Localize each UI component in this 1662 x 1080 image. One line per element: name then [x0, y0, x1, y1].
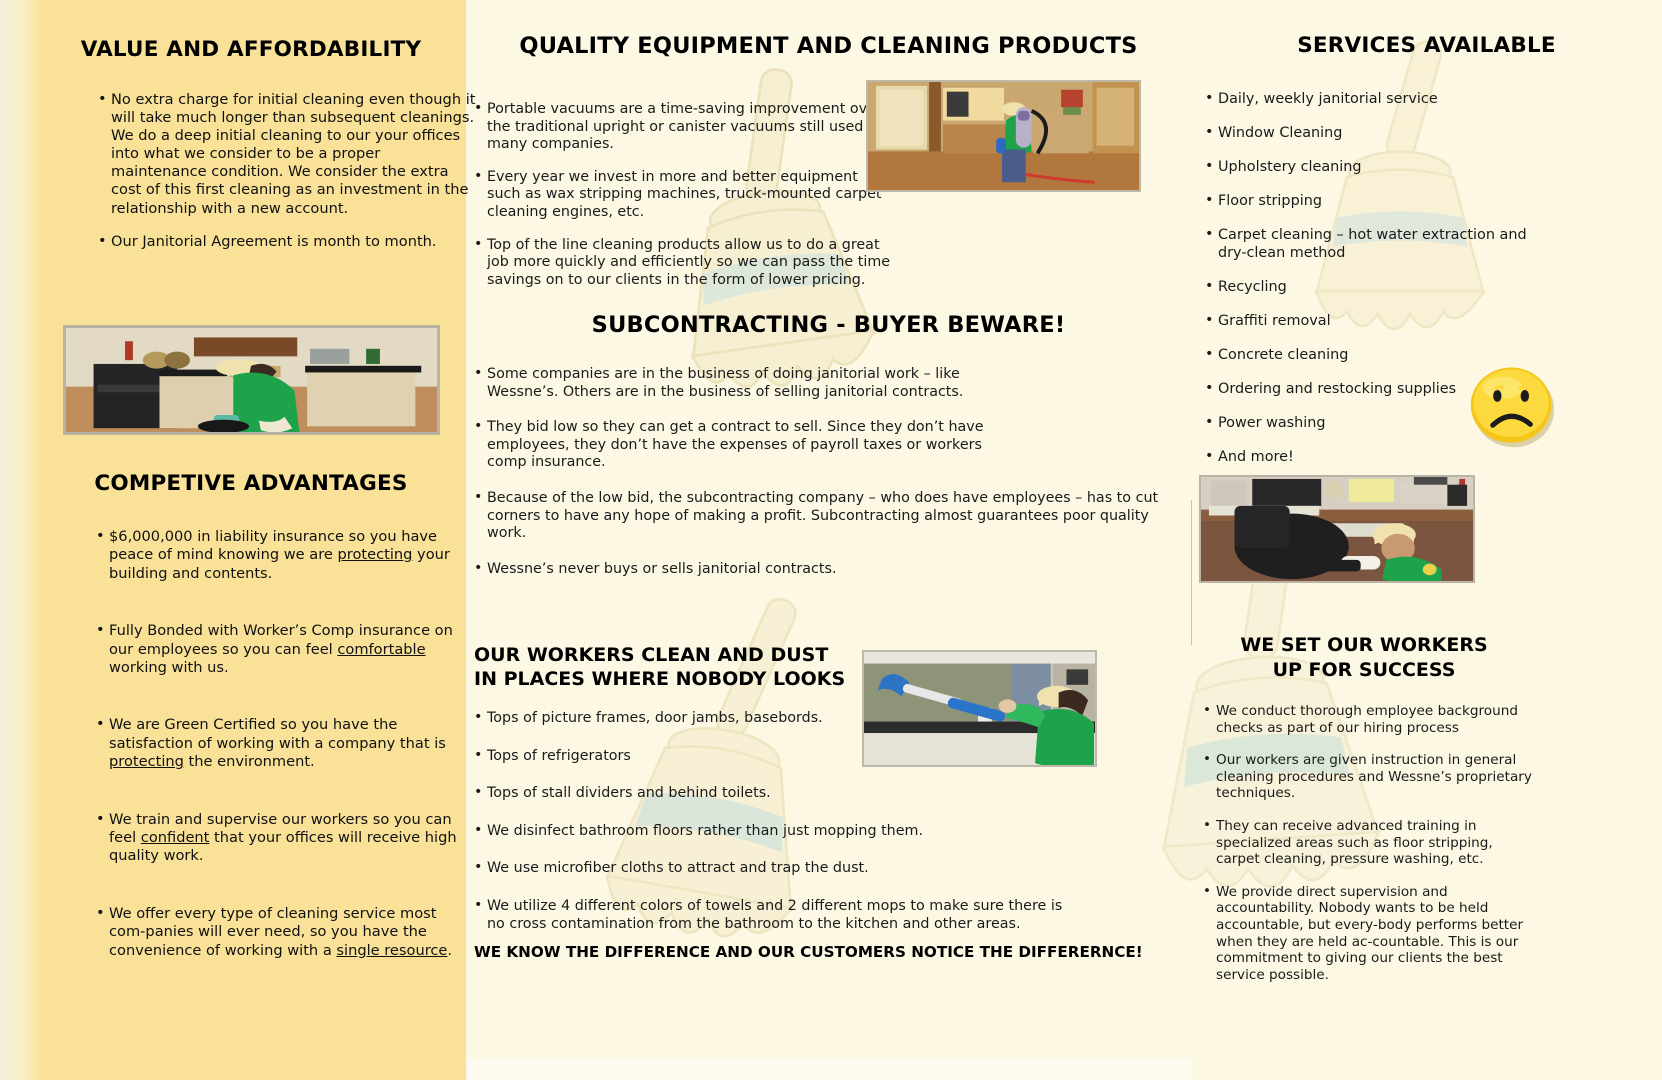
list-item: Concrete cleaning: [1205, 347, 1535, 365]
set-workers-up-for-success-list: We conduct thorough employee background …: [1203, 703, 1533, 983]
list-item: And more!: [1205, 449, 1535, 467]
list-item: Every year we invest in more and better …: [474, 169, 894, 222]
emphasis: confident: [141, 829, 210, 846]
quality-equipment-list: Portable vacuums are a time-saving impro…: [474, 101, 894, 289]
backpack-vacuum-photo: [866, 80, 1141, 192]
competitive-advantages-list: $6,000,000 in liability insurance so you…: [96, 528, 468, 960]
list-item: Our workers are given instruction in gen…: [1203, 752, 1533, 802]
heading-line-1: OUR WORKERS CLEAN AND DUST: [474, 643, 894, 667]
list-item: Portable vacuums are a time-saving impro…: [474, 101, 894, 154]
list-item: Floor stripping: [1205, 193, 1535, 211]
list-item: Power washing: [1205, 415, 1535, 433]
list-item: Top of the line cleaning products allow …: [474, 237, 894, 290]
list-item: Some companies are in the business of do…: [474, 366, 1019, 401]
list-item: Window Cleaning: [1205, 125, 1535, 143]
heading-line-2: UP FOR SUCCESS: [1199, 658, 1529, 683]
list-item: We use microfiber cloths to attract and …: [474, 860, 1074, 878]
set-workers-up-for-success-heading: WE SET OUR WORKERS UP FOR SUCCESS: [1199, 633, 1529, 683]
value-affordability-list: No extra charge for initial cleaning eve…: [98, 91, 476, 251]
quality-equipment-heading: QUALITY EQUIPMENT AND CLEANING PRODUCTS: [466, 33, 1191, 59]
list-item: We conduct thorough employee background …: [1203, 703, 1533, 736]
list-item: They bid low so they can get a contract …: [474, 419, 1019, 472]
list-item: Because of the low bid, the subcontracti…: [474, 490, 1164, 543]
emphasis: protecting: [338, 546, 413, 563]
list-item: We disinfect bathroom floors rather than…: [474, 823, 1074, 841]
cleaning-under-desk-photo: [1199, 475, 1475, 583]
subcontracting-heading: SUBCONTRACTING - BUYER BEWARE!: [466, 312, 1191, 338]
services-available-heading: SERVICES AVAILABLE: [1191, 33, 1662, 58]
right-column: SERVICES AVAILABLE Daily, weekly janitor…: [1191, 0, 1662, 1080]
left-column: VALUE AND AFFORDABILITY No extra charge …: [36, 0, 466, 1080]
services-available-list: Daily, weekly janitorial service Window …: [1205, 91, 1535, 466]
text-pre: We are Green Certified so you have the s…: [109, 716, 446, 751]
list-item: Daily, weekly janitorial service: [1205, 91, 1535, 109]
dusting-high-surface-photo: [862, 650, 1097, 767]
list-item: Recycling: [1205, 279, 1535, 297]
list-item: We utilize 4 different colors of towels …: [474, 898, 1074, 933]
list-item: No extra charge for initial cleaning eve…: [98, 91, 476, 218]
list-item: We are Green Certified so you have the s…: [96, 716, 468, 771]
heading-line-1: WE SET OUR WORKERS: [1199, 633, 1529, 658]
emphasis: comfortable: [337, 641, 425, 658]
list-item: Graffiti removal: [1205, 313, 1535, 331]
list-item: We provide direct supervision and accoun…: [1203, 884, 1533, 984]
list-item: Carpet cleaning – hot water extraction a…: [1205, 227, 1530, 262]
list-item: Fully Bonded with Worker’s Comp insuranc…: [96, 622, 468, 677]
brochure-page: VALUE AND AFFORDABILITY No extra charge …: [0, 0, 1662, 1080]
workers-clean-dust-heading: OUR WORKERS CLEAN AND DUST IN PLACES WHE…: [474, 643, 894, 691]
left-edge-gradient: [0, 0, 40, 1080]
text-post: the environment.: [184, 753, 315, 770]
know-the-difference-footer: WE KNOW THE DIFFERENCE AND OUR CUSTOMERS…: [474, 943, 1164, 961]
list-item: We offer every type of cleaning service …: [96, 905, 468, 960]
list-item: Our Janitorial Agreement is month to mon…: [98, 233, 476, 251]
list-item: Tops of stall dividers and behind toilet…: [474, 785, 1074, 803]
emphasis: protecting: [109, 753, 184, 770]
heading-line-2: IN PLACES WHERE NOBODY LOOKS: [474, 667, 894, 691]
list-item: Upholstery cleaning: [1205, 159, 1535, 177]
text-post: working with us.: [109, 659, 229, 676]
value-affordability-heading: VALUE AND AFFORDABILITY: [36, 37, 466, 62]
list-item: $6,000,000 in liability insurance so you…: [96, 528, 468, 583]
list-item: We train and supervise our workers so yo…: [96, 811, 468, 866]
emphasis: single resource: [336, 942, 447, 959]
kitchen-cleaning-photo: [63, 325, 440, 435]
text-post: .: [447, 942, 452, 959]
list-item: Wessne’s never buys or sells janitorial …: [474, 561, 1164, 579]
subcontracting-list: Some companies are in the business of do…: [474, 366, 1164, 578]
middle-column: QUALITY EQUIPMENT AND CLEANING PRODUCTS …: [466, 0, 1191, 1080]
competitive-advantages-heading: COMPETIVE ADVANTAGES: [36, 471, 466, 496]
list-item: Ordering and restocking supplies: [1205, 381, 1535, 399]
list-item: They can receive advanced training in sp…: [1203, 818, 1533, 868]
